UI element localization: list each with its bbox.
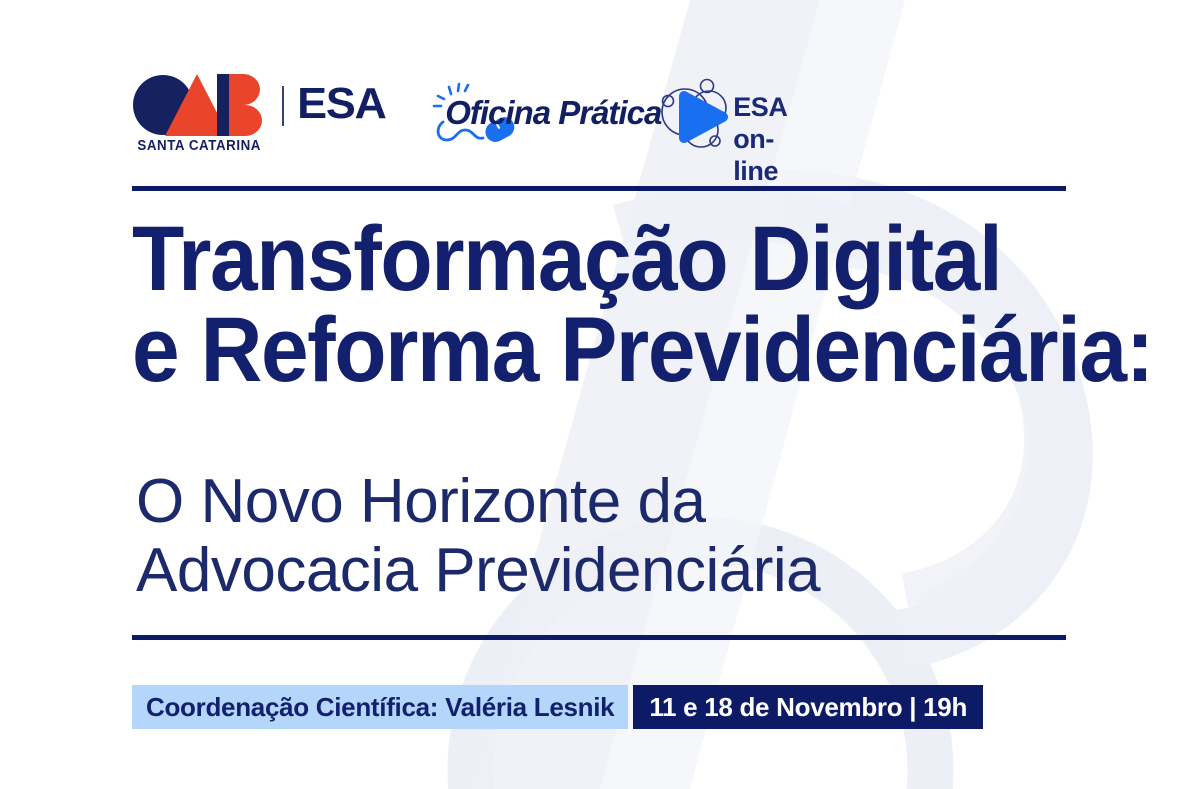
- date-badge: 11 e 18 de Novembro | 19h: [633, 685, 983, 729]
- footer-badges: Coordenação Científica: Valéria Lesnik 1…: [132, 685, 983, 729]
- logo-strip: SANTA CATARINA ESA: [132, 74, 817, 166]
- esa-label: ESA: [297, 82, 386, 126]
- esa-online-label: ESA on-line: [733, 92, 817, 188]
- oficina-pratica-label: Oficina Prática: [445, 96, 661, 129]
- oficina-pratica-logo: Oficina Prática: [427, 78, 627, 166]
- oab-esa-lockup: SANTA CATARINA ESA: [132, 74, 385, 166]
- event-subtitle-line2: Advocacia Previdenciária: [136, 536, 820, 605]
- event-title-line1: Transformação Digital: [132, 214, 1153, 305]
- coordination-badge: Coordenação Científica: Valéria Lesnik: [132, 685, 628, 729]
- event-subtitle-line1: O Novo Horizonte da: [136, 467, 820, 536]
- esa-online-line1: ESA: [733, 92, 787, 122]
- horizontal-rule-bottom: [132, 635, 1066, 640]
- esa-online-logo: ESA on-line: [657, 76, 817, 168]
- esa-online-line2: on-line: [733, 124, 817, 188]
- event-title: Transformação Digital e Reforma Previden…: [132, 214, 1153, 396]
- play-button-icon: [657, 78, 745, 160]
- oab-mark-icon: [133, 74, 265, 136]
- event-subtitle: O Novo Horizonte da Advocacia Previdenci…: [136, 467, 820, 606]
- horizontal-rule-top: [132, 186, 1066, 191]
- oab-state-label: SANTA CATARINA: [137, 138, 261, 154]
- event-title-line2: e Reforma Previdenciária:: [132, 305, 1153, 396]
- oab-logo: SANTA CATARINA: [132, 74, 266, 154]
- event-poster: SANTA CATARINA ESA: [0, 0, 1200, 789]
- logo-divider: [282, 86, 284, 126]
